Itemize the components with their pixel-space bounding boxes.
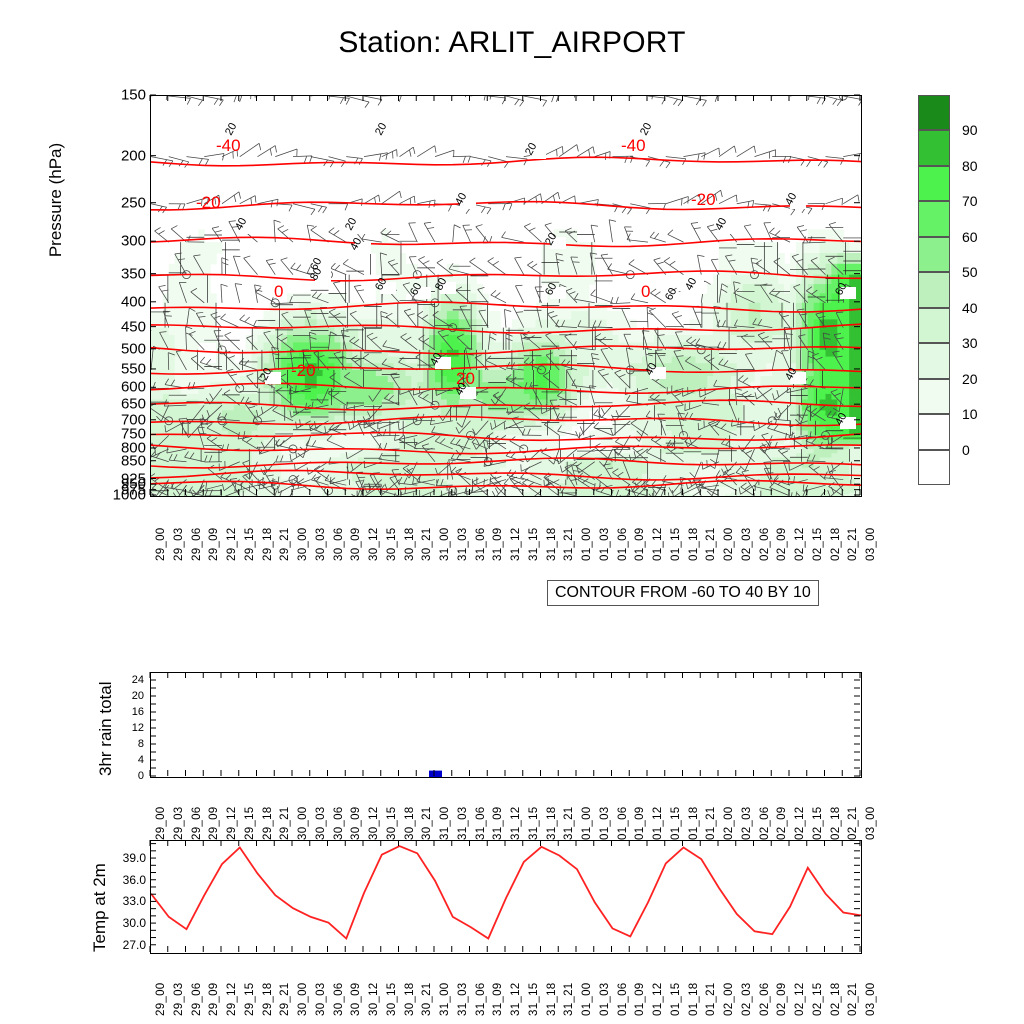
x-tick-label: 30_18 [404, 983, 416, 1016]
x-tick-label: 01_18 [688, 528, 700, 561]
x-tick-label: 02_03 [741, 528, 753, 561]
x-tick-label: 02_12 [794, 983, 806, 1016]
isotherm-label: -40 [621, 136, 646, 155]
x-tick-label: 31_18 [546, 807, 558, 840]
x-tick-label: 31_12 [510, 807, 522, 840]
x-tick-label: 29_15 [244, 807, 256, 840]
main-y-tick: 600 [121, 380, 146, 395]
rh-contour-label: 20 [343, 216, 366, 234]
rh-contour-label: 40 [453, 191, 476, 209]
x-tick-label: 02_18 [830, 807, 842, 840]
contour-range-note: CONTOUR FROM -60 TO 40 BY 10 [547, 580, 819, 606]
colorbar-swatch [918, 450, 950, 485]
x-tick-label: 02_00 [723, 983, 735, 1016]
x-tick-label: 31_06 [475, 807, 487, 840]
x-tick-label: 02_15 [812, 528, 824, 561]
rain-y-tick: 16 [132, 706, 144, 718]
x-tick-label: 01_03 [599, 807, 611, 840]
colorbar-tick: 70 [962, 193, 978, 209]
x-tick-label: 02_09 [776, 807, 788, 840]
x-tick-label: 31_03 [457, 807, 469, 840]
rain-canvas [151, 673, 861, 777]
x-tick-label: 30_15 [386, 807, 398, 840]
time-height-cross-section-plot[interactable]: -40-40-20-2000-2020202020402040204060608… [150, 95, 862, 497]
main-y-tick: 150 [121, 88, 146, 103]
x-tick-label: 02_21 [847, 807, 859, 840]
temp-x-axis-labels: 29_0029_0329_0629_0929_1229_1529_1829_21… [150, 960, 860, 1022]
temp-y-tick: 36.0 [123, 873, 146, 887]
x-tick-label: 01_21 [705, 983, 717, 1016]
page-title: Station: ARLIT_AIRPORT [0, 26, 1024, 60]
x-tick-label: 31_15 [528, 528, 540, 561]
x-tick-label: 02_15 [812, 983, 824, 1016]
rh-contour-label: 60 [663, 286, 686, 304]
x-tick-label: 29_21 [279, 983, 291, 1016]
rh-contour-label: 40 [713, 216, 736, 234]
x-tick-label: 29_15 [244, 983, 256, 1016]
colorbar-tick: 50 [962, 264, 978, 280]
x-tick-label: 29_21 [279, 528, 291, 561]
x-tick-label: 30_21 [421, 807, 433, 840]
x-tick-label: 02_06 [759, 528, 771, 561]
rh-contour-label: 40 [348, 236, 371, 254]
main-y-tick: 450 [121, 319, 146, 334]
x-tick-label: 31_09 [492, 983, 504, 1016]
x-tick-label: 31_21 [563, 528, 575, 561]
isotherm-label: -20 [291, 361, 316, 380]
main-y-tick: 850 [121, 453, 146, 468]
x-tick-label: 01_00 [581, 983, 593, 1016]
colorbar-swatch [918, 379, 950, 414]
x-tick-label: 30_15 [386, 983, 398, 1016]
colorbar-tick: 60 [962, 229, 978, 245]
x-tick-label: 31_15 [528, 983, 540, 1016]
x-tick-label: 30_00 [297, 983, 309, 1016]
rain-bar [429, 771, 442, 777]
x-tick-label: 30_06 [333, 807, 345, 840]
colorbar-swatch [918, 95, 950, 130]
rh-contour-label: 20 [373, 121, 396, 139]
x-tick-label: 29_00 [155, 807, 167, 840]
x-tick-label: 02_12 [794, 528, 806, 561]
x-tick-label: 01_21 [705, 528, 717, 561]
main-y-tick: 500 [121, 341, 146, 356]
colorbar-swatch [918, 130, 950, 165]
x-tick-label: 31_18 [546, 983, 558, 1016]
x-tick-label: 01_09 [634, 983, 646, 1016]
x-tick-label: 03_00 [865, 983, 877, 1016]
x-tick-label: 29_18 [262, 807, 274, 840]
x-tick-label: 29_18 [262, 983, 274, 1016]
colorbar-tick: 90 [962, 122, 978, 138]
x-tick-label: 30_00 [297, 528, 309, 561]
temperature-line-chart[interactable] [150, 840, 862, 954]
main-y-tick: 200 [121, 148, 146, 163]
x-tick-label: 30_06 [333, 983, 345, 1016]
x-tick-label: 02_18 [830, 528, 842, 561]
x-tick-label: 30_21 [421, 983, 433, 1016]
x-tick-label: 30_03 [315, 983, 327, 1016]
colorbar-tick: 80 [962, 158, 978, 174]
rain-y-axis-labels: 04812162024 [112, 672, 144, 776]
x-tick-label: 29_00 [155, 983, 167, 1016]
temp-y-tick: 27.0 [123, 938, 146, 952]
x-tick-label: 30_12 [368, 528, 380, 561]
x-tick-label: 31_15 [528, 807, 540, 840]
isotherm-label: -20 [691, 190, 716, 209]
rain-y-tick: 0 [138, 770, 144, 782]
rain-y-tick: 8 [138, 738, 144, 750]
x-tick-label: 01_03 [599, 528, 611, 561]
x-tick-label: 30_09 [350, 528, 362, 561]
rain-y-tick: 24 [132, 674, 144, 686]
x-tick-label: 31_00 [439, 983, 451, 1016]
x-tick-label: 30_12 [368, 983, 380, 1016]
rh-contour-label: 40 [683, 276, 706, 294]
x-tick-label: 01_18 [688, 983, 700, 1016]
x-tick-label: 31_03 [457, 528, 469, 561]
main-x-axis-labels: 29_0029_0329_0629_0929_1229_1529_1829_21… [150, 505, 860, 567]
x-tick-label: 30_03 [315, 528, 327, 561]
colorbar-tick: 0 [962, 442, 970, 458]
rh-contour-label: 40 [233, 216, 256, 234]
x-tick-label: 02_21 [847, 983, 859, 1016]
main-y-tick: 350 [121, 266, 146, 281]
x-tick-label: 02_06 [759, 807, 771, 840]
x-tick-label: 03_00 [865, 807, 877, 840]
x-tick-label: 01_03 [599, 983, 611, 1016]
x-tick-label: 01_06 [617, 807, 629, 840]
x-tick-label: 29_21 [279, 807, 291, 840]
colorbar-tick: 20 [962, 371, 978, 387]
x-tick-label: 29_03 [173, 528, 185, 561]
main-y-tick: 650 [121, 397, 146, 412]
x-tick-label: 29_12 [226, 807, 238, 840]
temp-y-tick: 39.0 [123, 851, 146, 865]
x-tick-label: 01_12 [652, 528, 664, 561]
x-tick-label: 29_06 [191, 983, 203, 1016]
x-tick-label: 30_03 [315, 807, 327, 840]
x-tick-label: 31_09 [492, 807, 504, 840]
x-tick-label: 02_00 [723, 528, 735, 561]
x-tick-label: 31_03 [457, 983, 469, 1016]
x-tick-label: 01_21 [705, 807, 717, 840]
x-tick-label: 29_09 [208, 807, 220, 840]
x-tick-label: 29_12 [226, 528, 238, 561]
x-tick-label: 31_00 [439, 528, 451, 561]
x-tick-label: 01_12 [652, 983, 664, 1016]
main-y-tick: 400 [121, 294, 146, 309]
x-tick-label: 30_06 [333, 528, 345, 561]
isotherm-label: 0 [274, 282, 283, 301]
x-tick-label: 02_00 [723, 807, 735, 840]
main-y-tick: 250 [121, 195, 146, 210]
x-tick-label: 29_09 [208, 528, 220, 561]
main-y-axis-title: Pressure (hPa) [46, 143, 66, 257]
x-tick-label: 02_12 [794, 807, 806, 840]
x-tick-label: 29_15 [244, 528, 256, 561]
x-tick-label: 30_12 [368, 807, 380, 840]
x-tick-label: 31_09 [492, 528, 504, 561]
x-tick-label: 01_06 [617, 983, 629, 1016]
x-tick-label: 01_15 [670, 983, 682, 1016]
x-tick-label: 29_06 [191, 807, 203, 840]
rain-y-tick: 4 [138, 754, 144, 766]
main-y-tick: 550 [121, 361, 146, 376]
x-tick-label: 30_21 [421, 528, 433, 561]
x-tick-label: 01_09 [634, 528, 646, 561]
x-tick-label: 30_18 [404, 807, 416, 840]
x-tick-label: 31_00 [439, 807, 451, 840]
x-tick-label: 31_12 [510, 528, 522, 561]
x-tick-label: 01_00 [581, 807, 593, 840]
rain-y-tick: 20 [132, 690, 144, 702]
x-tick-label: 01_12 [652, 807, 664, 840]
colorbar-swatch [918, 414, 950, 449]
x-tick-label: 02_21 [847, 528, 859, 561]
temp-y-tick: 30.0 [123, 916, 146, 930]
colorbar-swatch [918, 237, 950, 272]
cross-section-canvas: -40-40-20-2000-2020202020402040204060608… [151, 96, 861, 496]
rain-y-tick: 12 [132, 722, 144, 734]
isotherm-label: -20 [196, 193, 221, 212]
x-tick-label: 02_09 [776, 528, 788, 561]
colorbar-swatch [918, 308, 950, 343]
x-tick-label: 02_06 [759, 983, 771, 1016]
colorbar-tick: 30 [962, 335, 978, 351]
colorbar-swatch [918, 272, 950, 307]
main-y-tick: 1000 [113, 488, 146, 503]
colorbar-tick: 40 [962, 300, 978, 316]
colorbar-swatch [918, 201, 950, 236]
x-tick-label: 02_09 [776, 983, 788, 1016]
x-tick-label: 29_00 [155, 528, 167, 561]
x-tick-label: 02_03 [741, 983, 753, 1016]
x-tick-label: 02_03 [741, 807, 753, 840]
x-tick-label: 01_15 [670, 807, 682, 840]
x-tick-label: 01_06 [617, 528, 629, 561]
x-tick-label: 31_12 [510, 983, 522, 1016]
x-tick-label: 29_12 [226, 983, 238, 1016]
x-tick-label: 31_18 [546, 528, 558, 561]
x-tick-label: 02_15 [812, 807, 824, 840]
x-tick-label: 29_06 [191, 528, 203, 561]
colorbar-swatch [918, 166, 950, 201]
x-tick-label: 29_03 [173, 807, 185, 840]
temp-y-tick: 33.0 [123, 894, 146, 908]
x-tick-label: 31_06 [475, 528, 487, 561]
x-tick-label: 01_09 [634, 807, 646, 840]
x-tick-label: 02_18 [830, 983, 842, 1016]
x-tick-label: 01_18 [688, 807, 700, 840]
colorbar-tick: 10 [962, 406, 978, 422]
temp-y-axis-labels: 27.030.033.036.039.0 [104, 840, 146, 952]
x-tick-label: 29_09 [208, 983, 220, 1016]
x-tick-label: 29_03 [173, 983, 185, 1016]
relative-humidity-colorbar: 0102030405060708090 [918, 95, 950, 485]
x-tick-label: 30_09 [350, 983, 362, 1016]
temp-canvas [151, 841, 861, 953]
main-y-tick: 300 [121, 234, 146, 249]
rain-x-axis-labels: 29_0029_0329_0629_0929_1229_1529_1829_21… [150, 784, 860, 846]
x-tick-label: 31_06 [475, 983, 487, 1016]
x-tick-label: 30_18 [404, 528, 416, 561]
x-tick-label: 03_00 [865, 528, 877, 561]
main-y-axis-labels: 1502002503003504004505005506006507007508… [100, 95, 146, 495]
colorbar-swatch [918, 343, 950, 378]
x-tick-label: 01_15 [670, 528, 682, 561]
isotherm-label: 0 [641, 282, 650, 301]
x-tick-label: 31_21 [563, 983, 575, 1016]
x-tick-label: 30_09 [350, 807, 362, 840]
rain-total-bar-chart[interactable] [150, 672, 862, 778]
x-tick-label: 31_21 [563, 807, 575, 840]
x-tick-label: 01_00 [581, 528, 593, 561]
x-tick-label: 30_15 [386, 528, 398, 561]
x-tick-label: 29_18 [262, 528, 274, 561]
temp-line [151, 846, 861, 938]
x-tick-label: 30_00 [297, 807, 309, 840]
